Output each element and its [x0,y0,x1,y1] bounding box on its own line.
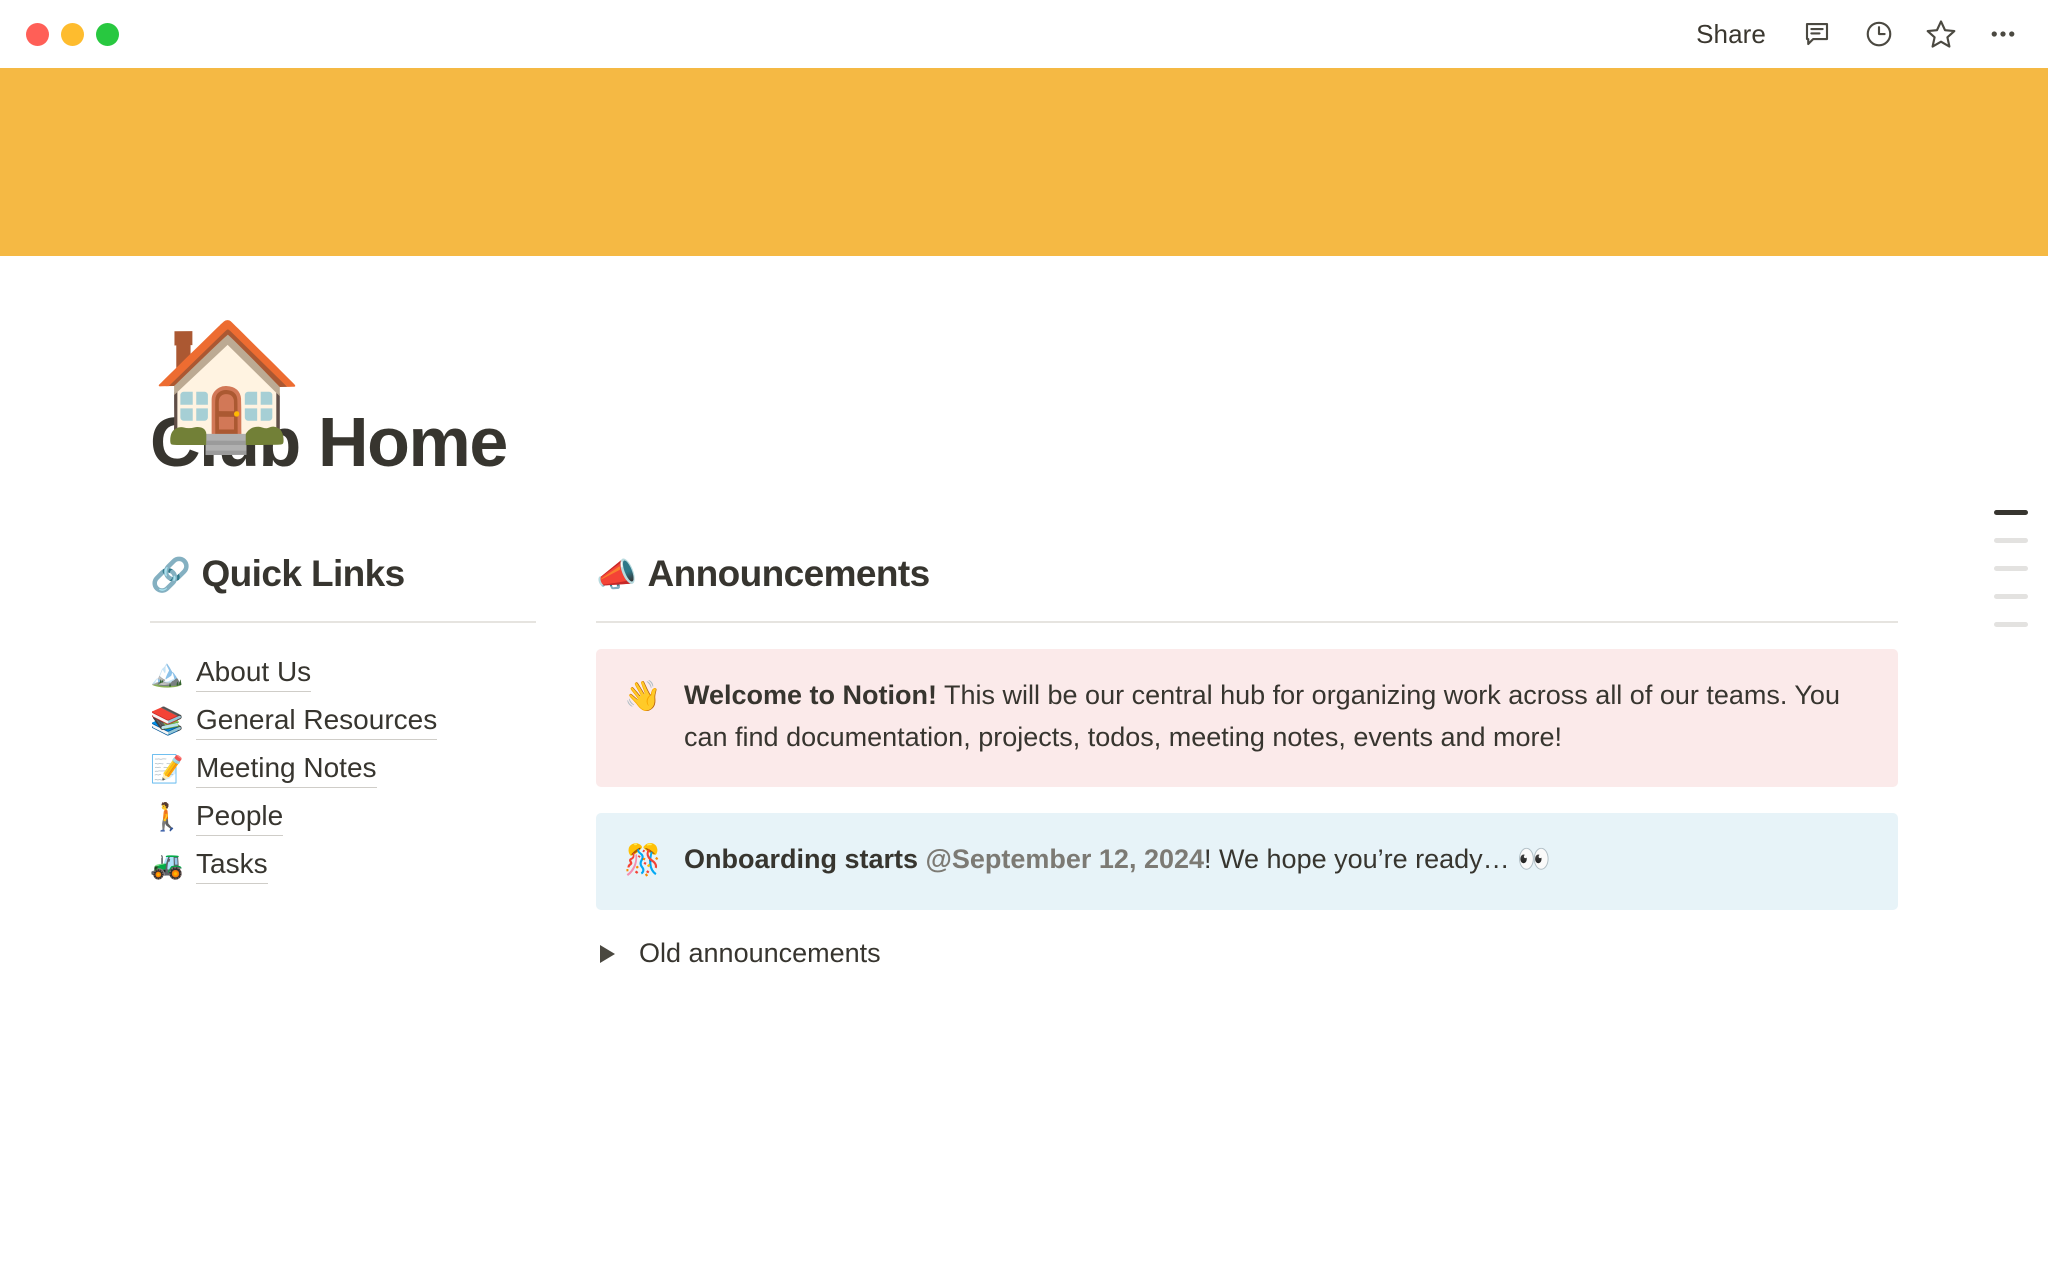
callout-onboarding-lead: Onboarding starts [684,844,926,874]
titlebar-actions: Share [1690,0,2020,68]
announcements-heading-text: Announcements [648,553,930,595]
callout-welcome-text: Welcome to Notion! This will be our cent… [684,675,1868,759]
history-icon[interactable] [1862,17,1896,51]
outline-line[interactable] [1994,566,2028,571]
favorite-star-icon[interactable] [1924,17,1958,51]
quick-links-divider [150,621,536,623]
outline-line[interactable] [1994,622,2028,627]
two-column-layout: 🔗 Quick Links 🏔️ About Us 📚 General Reso… [150,553,1898,969]
memo-icon: 📝 [150,756,182,783]
page-cover[interactable] [0,68,2048,256]
quick-link-tasks[interactable]: Tasks [196,846,268,884]
callout-welcome[interactable]: 👋 Welcome to Notion! This will be our ce… [596,649,1898,787]
announcements-column: 📣 Announcements 👋 Welcome to Notion! Thi… [596,553,1898,969]
quick-link-general-resources[interactable]: General Resources [196,702,437,740]
quick-link-about-us[interactable]: About Us [196,654,311,692]
callout-welcome-lead: Welcome to Notion! [684,680,937,710]
callout-onboarding-body: ! We hope you’re ready… 👀 [1204,844,1551,874]
list-item[interactable]: 📝 Meeting Notes [150,745,536,793]
toggle-old-announcements-label[interactable]: Old announcements [639,938,881,969]
link-icon: 🔗 [150,558,191,591]
date-mention[interactable]: @September 12, 2024 [926,844,1204,874]
quick-links-heading-text: Quick Links [202,553,405,595]
mountain-icon: 🏔️ [150,660,182,687]
quick-link-people[interactable]: People [196,798,283,836]
maximize-window-button[interactable] [96,23,119,46]
outline-line-active[interactable] [1994,510,2028,515]
list-item[interactable]: 🏔️ About Us [150,649,536,697]
quick-links-list: 🏔️ About Us 📚 General Resources 📝 Meetin… [150,649,536,889]
window-titlebar: Share [0,0,2048,68]
quick-link-meeting-notes[interactable]: Meeting Notes [196,750,377,788]
waving-hand-icon: 👋 [624,675,662,759]
announcements-divider [596,621,1898,623]
notion-window: Share [0,0,2048,1280]
comment-icon[interactable] [1800,17,1834,51]
close-window-button[interactable] [26,23,49,46]
books-icon: 📚 [150,708,182,735]
confetti-ball-icon: 🎊 [624,839,662,883]
toggle-old-announcements[interactable]: Old announcements [596,938,1898,969]
person-walking-icon: 🚶 [150,804,182,831]
list-item[interactable]: 📚 General Resources [150,697,536,745]
quick-links-heading: 🔗 Quick Links [150,553,536,595]
page-title[interactable]: Club Home [150,404,1898,481]
list-item[interactable]: 🚜 Tasks [150,841,536,889]
announcements-heading: 📣 Announcements [596,553,1898,595]
minimize-window-button[interactable] [61,23,84,46]
traffic-light-group [26,23,119,46]
megaphone-icon: 📣 [596,558,637,591]
list-item[interactable]: 🚶 People [150,793,536,841]
tractor-icon: 🚜 [150,852,182,879]
outline-line[interactable] [1994,594,2028,599]
callout-onboarding-text: Onboarding starts @September 12, 2024! W… [684,839,1551,883]
quick-links-column: 🔗 Quick Links 🏔️ About Us 📚 General Reso… [150,553,596,969]
callout-onboarding[interactable]: 🎊 Onboarding starts @September 12, 2024!… [596,813,1898,911]
table-of-contents-indicator[interactable] [1994,510,2028,627]
chevron-right-icon[interactable] [600,945,615,963]
share-button[interactable]: Share [1690,15,1772,54]
outline-line[interactable] [1994,538,2028,543]
more-options-icon[interactable] [1986,17,2020,51]
page-content: 🏠 Club Home 🔗 Quick Links 🏔️ About Us 📚 [0,404,2048,969]
page-icon-house[interactable]: 🏠 [150,324,278,452]
